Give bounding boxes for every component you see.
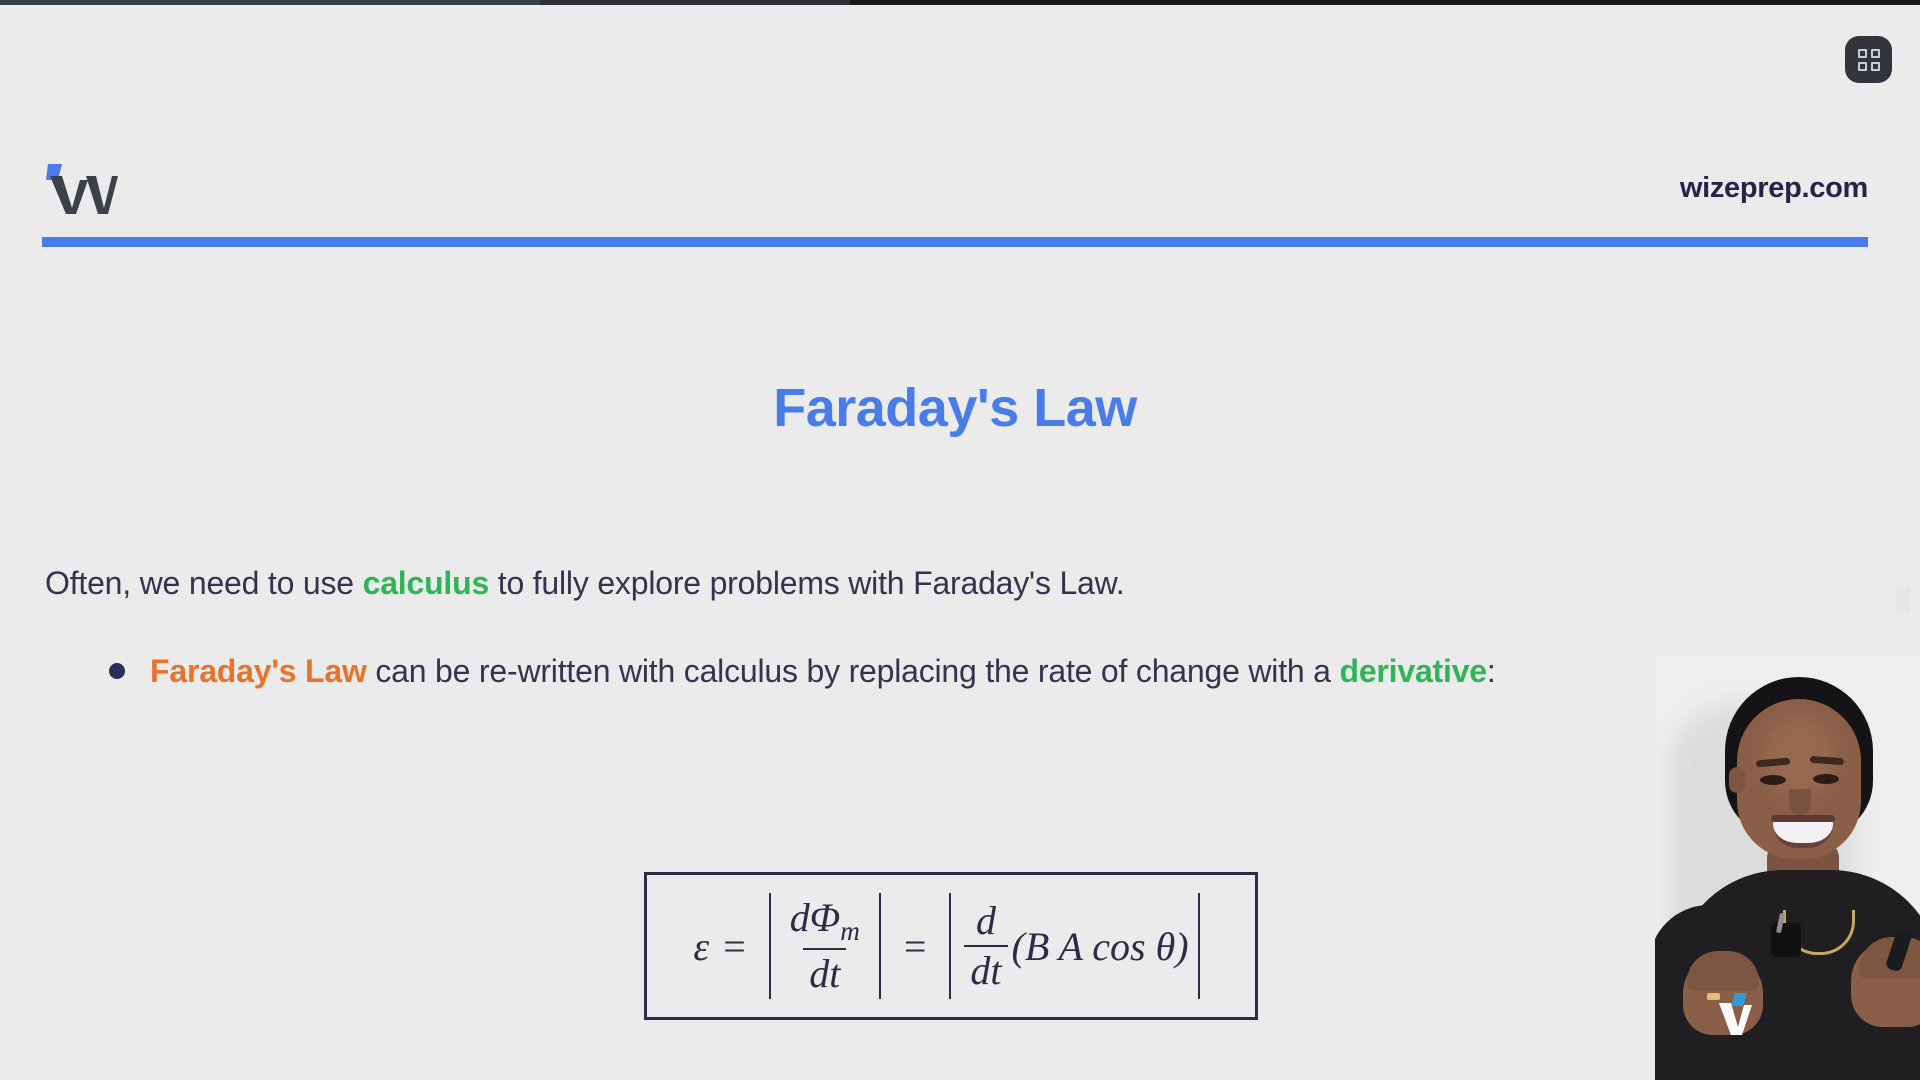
faraday-law-equation: ε = dΦm dt = d dt (B A cos θ) [693, 893, 1208, 999]
presenter-eye-right [1813, 774, 1839, 784]
slide-edge-artifact [1896, 588, 1910, 614]
presenter-ear [1729, 767, 1745, 793]
wizeprep-w-logo [1717, 993, 1763, 1037]
symbol-epsilon: ε [693, 923, 709, 970]
keyword-faradays-law: Faraday's Law [150, 653, 367, 689]
intro-part-2: to fully explore problems with Faraday's… [489, 565, 1124, 601]
presenter-nose [1789, 789, 1811, 815]
wizeprep-w-logo [42, 162, 118, 216]
grid-apps-button[interactable] [1845, 36, 1892, 83]
grid-cell-2 [1871, 49, 1880, 58]
intro-paragraph: Often, we need to use calculus to fully … [45, 564, 1745, 602]
grid-cell-4 [1871, 62, 1880, 71]
keyword-calculus: calculus [363, 565, 489, 601]
bullet-text-part-2: : [1487, 653, 1496, 689]
fraction-numerator-1: dΦm [784, 897, 866, 949]
keyword-derivative: derivative [1339, 653, 1486, 689]
abs-bar-open-2 [949, 893, 951, 999]
intro-part-1: Often, we need to use [45, 565, 363, 601]
fraction-denominator-1: dt [803, 948, 846, 995]
expression-ba-cos-theta: (B A cos θ) [1012, 923, 1189, 970]
numerator-text-1: dΦ [790, 895, 840, 940]
presenter-webcam-overlay[interactable] [1655, 655, 1920, 1080]
grid-cell-3 [1858, 62, 1867, 71]
fraction-d-dt: d dt [960, 900, 1011, 992]
lapel-microphone [1771, 923, 1801, 957]
grid-cell-1 [1858, 49, 1867, 58]
top-bar-segment-right [850, 0, 1920, 5]
page-title: Faraday's Law [0, 377, 1910, 439]
bullet-text-part-1: can be re-written with calculus by repla… [367, 653, 1340, 689]
fraction-denominator-2: dt [964, 945, 1007, 992]
bullet-dot-icon [109, 663, 125, 679]
grid-2x2-icon [1858, 49, 1880, 71]
top-bar-segment-left [0, 0, 540, 5]
abs-bar-close-2 [1198, 893, 1200, 999]
top-bar-segment-mid [540, 0, 850, 5]
presenter-upper-lip [1771, 815, 1835, 822]
subscript-m: m [840, 916, 860, 946]
bullet-list: Faraday's Law can be re-written with cal… [45, 640, 1685, 702]
fraction-numerator-2: d [970, 900, 1002, 945]
site-url-label: wizeprep.com [1680, 172, 1868, 205]
list-item: Faraday's Law can be re-written with cal… [45, 640, 1685, 702]
formula-box: ε = dΦm dt = d dt (B A cos θ) [644, 872, 1258, 1020]
fraction-flux-derivative: dΦm dt [780, 897, 870, 996]
browser-top-bar [0, 0, 1920, 5]
equals-sign-2: = [904, 923, 927, 970]
equals-sign-1: = [723, 923, 746, 970]
abs-bar-open-1 [769, 893, 771, 999]
abs-bar-close-1 [879, 893, 881, 999]
header-divider-rule [42, 237, 1868, 247]
presenter-eye-left [1760, 775, 1786, 785]
slide-header: wizeprep.com [42, 150, 1868, 230]
